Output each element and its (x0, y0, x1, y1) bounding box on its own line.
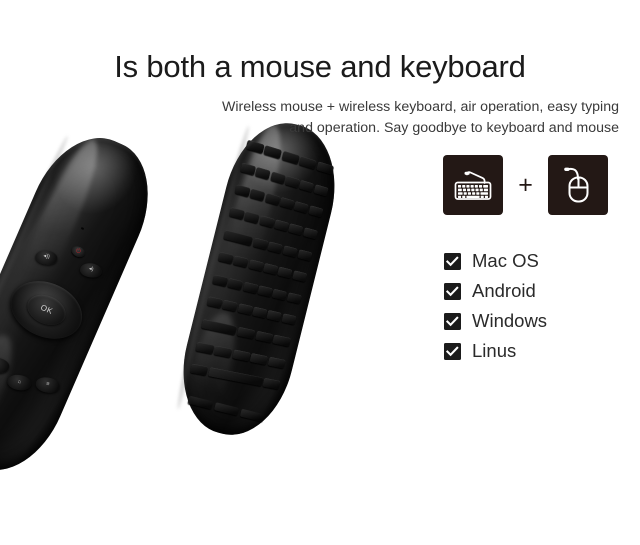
keyboard-badge (443, 155, 503, 215)
os-label: Linus (472, 342, 516, 361)
os-label: Android (472, 282, 536, 301)
os-support-list: Mac OS Android Windows Linus (444, 246, 634, 366)
list-item[interactable]: Linus (444, 336, 634, 366)
check-icon (446, 316, 459, 327)
mouse-badge (548, 155, 608, 215)
list-item[interactable]: Mac OS (444, 246, 634, 276)
page-title: Is both a mouse and keyboard (0, 49, 640, 85)
check-icon (446, 346, 459, 357)
list-item[interactable]: Windows (444, 306, 634, 336)
device-keyboard-side (168, 112, 350, 447)
check-icon (446, 286, 459, 297)
device-rim (168, 112, 350, 447)
checkbox-checked-icon[interactable] (444, 283, 461, 300)
subtitle-line-1: Wireless mouse + wireless keyboard, air … (140, 97, 619, 118)
os-label: Windows (472, 312, 547, 331)
keyboard-icon (453, 170, 493, 201)
check-icon (446, 256, 459, 267)
list-item[interactable]: Android (444, 276, 634, 306)
checkbox-checked-icon[interactable] (444, 343, 461, 360)
os-label: Mac OS (472, 252, 539, 271)
plus-icon: + (503, 173, 548, 198)
subtitle: Wireless mouse + wireless keyboard, air … (140, 97, 619, 138)
input-mode-badges: + (443, 155, 608, 215)
subtitle-line-2: and operation. Say goodbye to keyboard a… (140, 118, 619, 139)
checkbox-checked-icon[interactable] (444, 253, 461, 270)
checkbox-checked-icon[interactable] (444, 313, 461, 330)
device-button-side: ⏻ ◂)) ◂) OK ↰ ⌂ ≡ (0, 120, 170, 487)
mouse-icon (561, 165, 595, 205)
device-rim (0, 120, 170, 487)
